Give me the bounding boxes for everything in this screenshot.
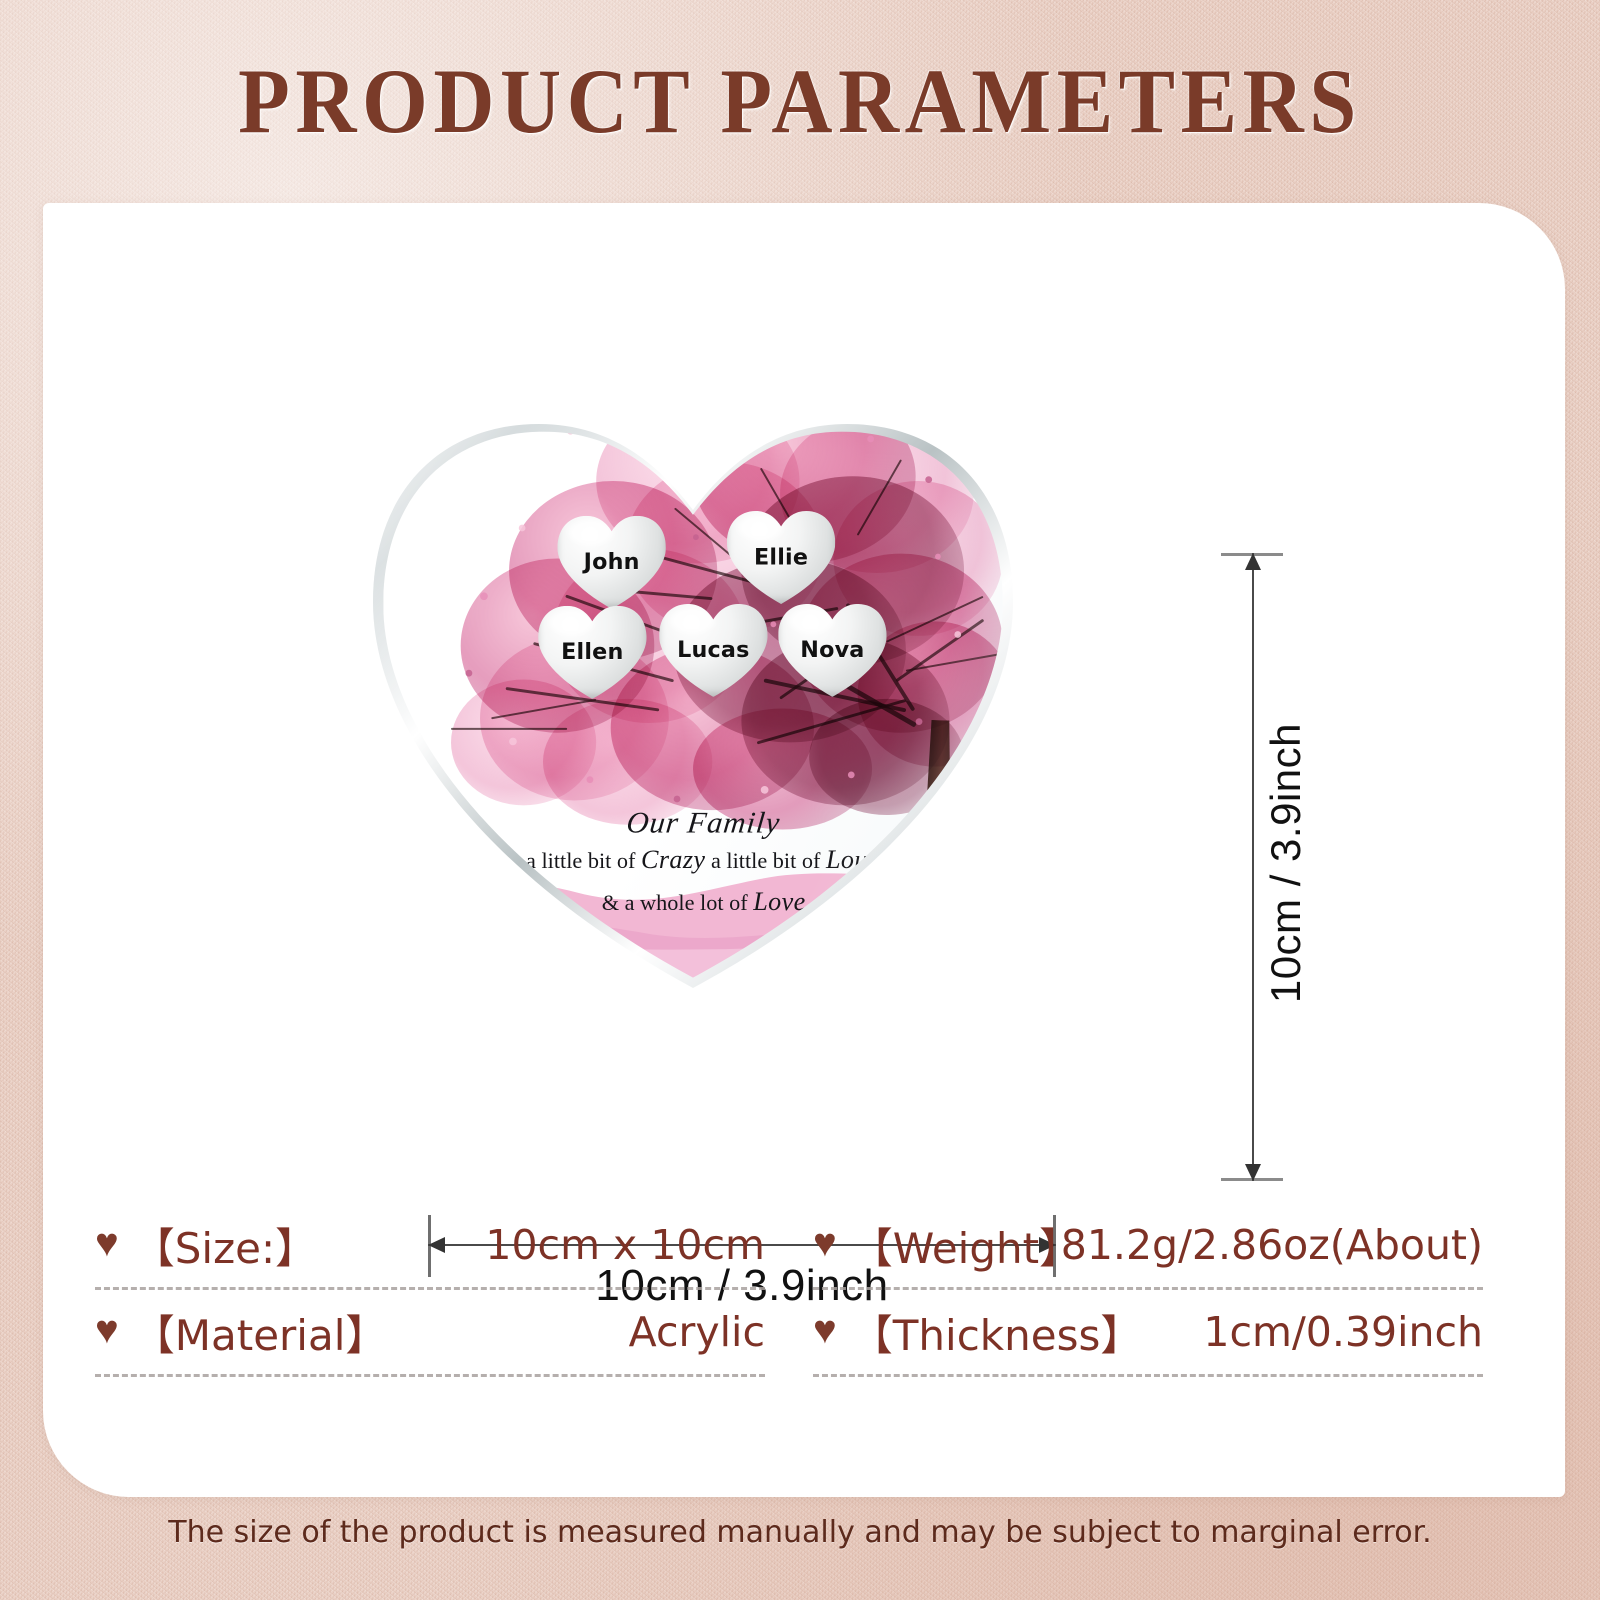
spec-key: ♥ 【Thickness】 — [813, 1302, 1142, 1363]
spec-label-material: 【Material】 — [133, 1302, 388, 1363]
height-dimension-label: 10cm / 3.9inch — [1262, 723, 1310, 1003]
spec-value-thickness: 1cm/0.39inch — [1203, 1308, 1483, 1356]
name-label: Ellen — [561, 640, 623, 665]
name-label: Ellie — [754, 545, 808, 570]
spec-table: ♥ 【Size:】 10cm x 10cm ♥ 【Material】 Acryl… — [43, 1203, 1565, 1497]
spec-row-size: ♥ 【Size:】 10cm x 10cm — [95, 1203, 765, 1287]
spec-row-thickness: ♥ 【Thickness】 1cm/0.39inch — [813, 1290, 1483, 1374]
spec-key: ♥ 【Weight】 — [813, 1215, 1081, 1276]
spec-divider — [95, 1374, 765, 1377]
heart-bullet-icon: ♥ — [95, 1223, 119, 1263]
name-heart-3: Ellen — [538, 602, 646, 699]
spec-label-thickness: 【Thickness】 — [851, 1302, 1143, 1363]
name-label: Lucas — [677, 638, 749, 663]
heart-bullet-icon: ♥ — [813, 1310, 837, 1350]
footer-note: The size of the product is measured manu… — [0, 1515, 1600, 1550]
name-heart-5: Nova — [778, 600, 886, 697]
spec-column-right: ♥ 【Weight】 81.2g/2.86oz(About) ♥ 【Thickn… — [813, 1203, 1483, 1377]
height-dimension-line — [1251, 553, 1255, 1181]
spec-value-weight: 81.2g/2.86oz(About) — [1061, 1221, 1483, 1269]
quote-line-1: Our Family — [476, 805, 931, 840]
spec-value-material: Acrylic — [629, 1308, 765, 1356]
spec-row-material: ♥ 【Material】 Acrylic — [95, 1290, 765, 1374]
page-title: PRODUCT PARAMETERS — [64, 48, 1536, 154]
heart-bullet-icon: ♥ — [95, 1310, 119, 1350]
name-label: Nova — [800, 638, 864, 663]
spec-label-size: 【Size:】 — [133, 1215, 317, 1276]
name-heart-2: Ellie — [727, 507, 835, 604]
content-card: John Ellie Ellen Lucas — [43, 203, 1565, 1497]
spec-label-weight: 【Weight】 — [851, 1215, 1081, 1276]
quote-l2-script-1: Crazy — [641, 845, 705, 874]
spec-key: ♥ 【Size:】 — [95, 1215, 317, 1276]
dim-line-vertical — [1252, 553, 1254, 1181]
quote-heading: Our Family — [625, 805, 782, 840]
arrow-up-icon — [1245, 553, 1261, 570]
name-heart-4: Lucas — [659, 600, 767, 697]
spec-column-left: ♥ 【Size:】 10cm x 10cm ♥ 【Material】 Acryl… — [95, 1203, 765, 1377]
quote-l3-a: & a whole lot of — [602, 890, 753, 914]
heart-bullet-icon: ♥ — [813, 1223, 837, 1263]
spec-key: ♥ 【Material】 — [95, 1302, 387, 1363]
spec-row-weight: ♥ 【Weight】 81.2g/2.86oz(About) — [813, 1203, 1483, 1287]
quote-l2-a: a little bit of — [526, 849, 641, 873]
name-heart-1: John — [557, 512, 665, 609]
arrow-down-icon — [1245, 1164, 1261, 1181]
spec-value-size: 10cm x 10cm — [485, 1221, 765, 1269]
product-image-area: John Ellie Ellen Lucas — [43, 203, 1565, 1103]
acrylic-heart-plaque: John Ellie Ellen Lucas — [373, 340, 1013, 988]
name-label: John — [584, 550, 640, 575]
quote-l3-script: Love — [753, 886, 805, 915]
spec-divider — [813, 1374, 1483, 1377]
quote-l2-b: a little bit of — [705, 849, 826, 873]
